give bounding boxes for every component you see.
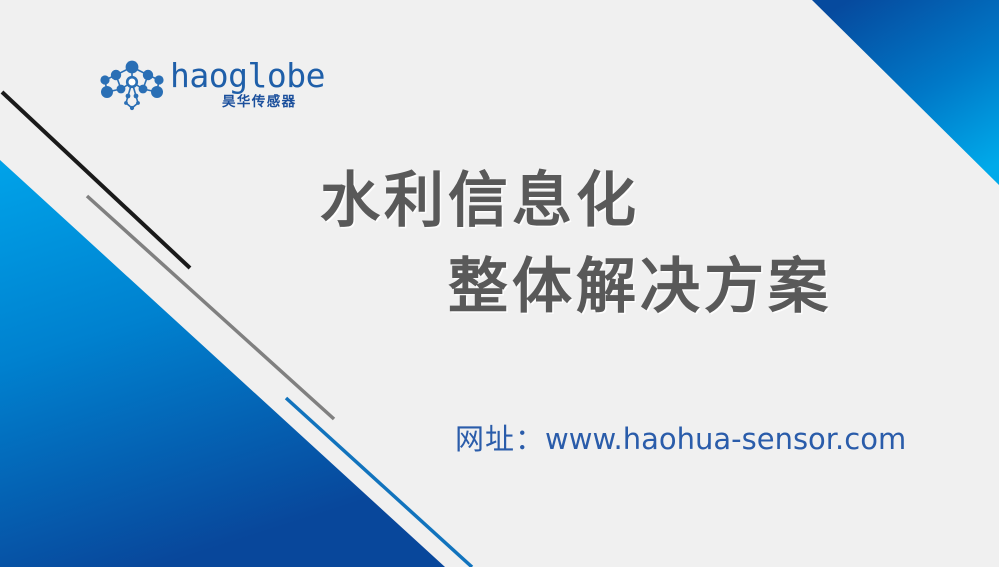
logo-subtitle-chinese: 昊华传感器 [222,94,297,110]
page-title: 水利信息化 整体解决方案 [0,158,999,330]
company-logo[interactable]: haoglobe 昊华传感器 [96,58,326,120]
haoglobe-network-dots-icon [96,58,168,114]
website-url[interactable]: www.haohua-sensor.com [545,422,906,456]
title-line-2: 整体解决方案 [0,244,999,330]
website-label: 网址： [455,422,545,456]
website-line: 网址：www.haohua-sensor.com [455,418,906,460]
presentation-title-slide: haoglobe 昊华传感器 水利信息化 整体解决方案 网址：www.haohu… [0,0,999,567]
logo-text-group: haoglobe 昊华传感器 [170,56,320,116]
title-line-1: 水利信息化 [0,158,999,244]
logo-wordmark: haoglobe [170,56,325,96]
